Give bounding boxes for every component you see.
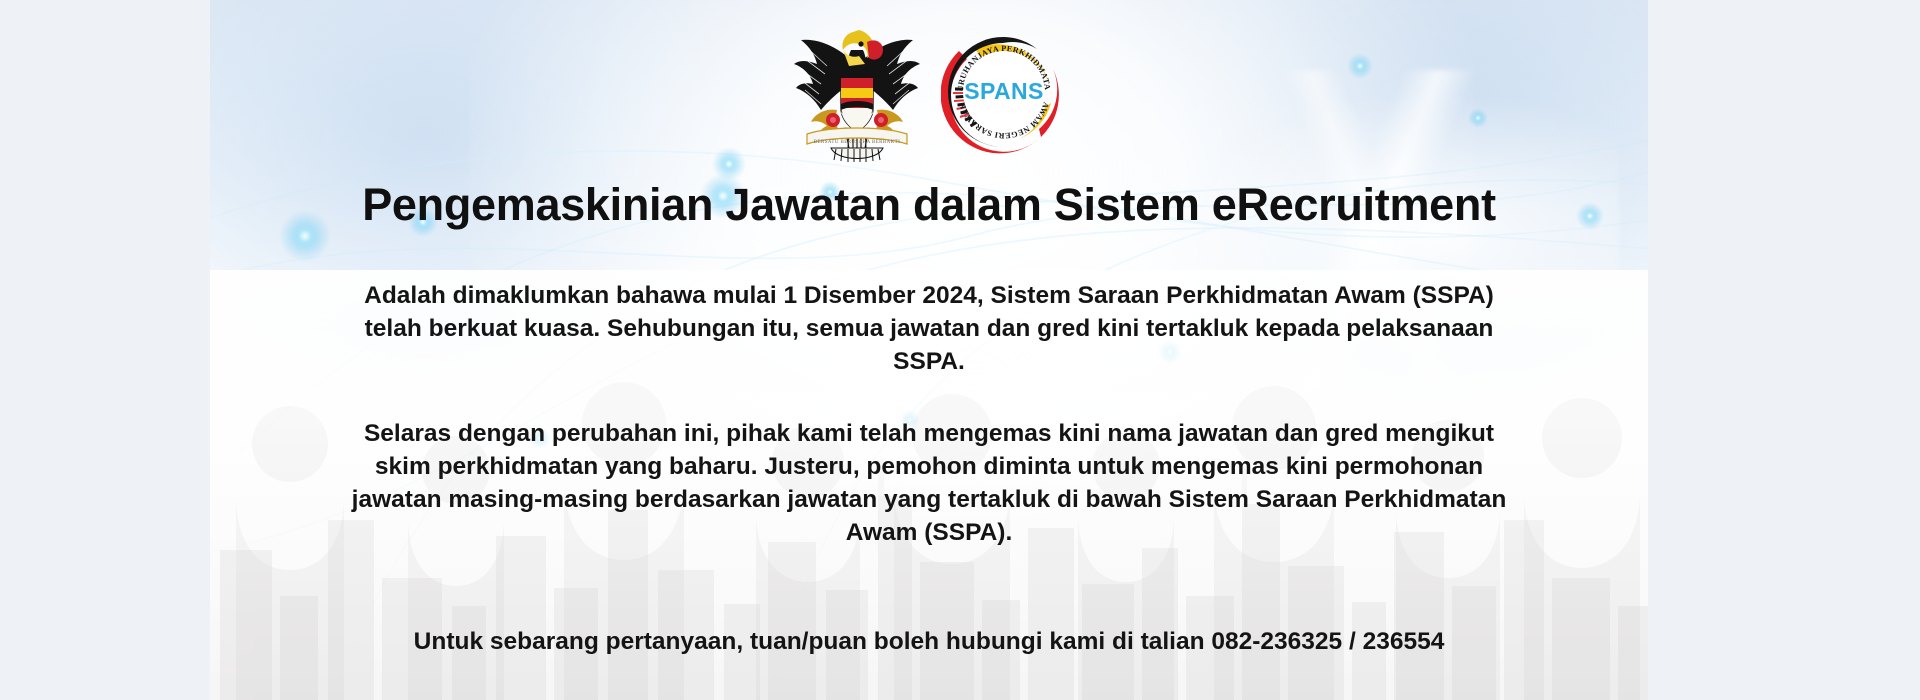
page-title: Pengemaskinian Jawatan dalam Sistem eRec…	[362, 180, 1496, 230]
contact-line: Untuk sebarang pertanyaan, tuan/puan bol…	[304, 626, 1554, 659]
page-root: BERSATU BERUSAHA BERBAKTI	[0, 0, 1920, 700]
announcement-paragraph-2: Selaras dengan perubahan ini, pihak kami…	[334, 418, 1524, 549]
logo-row: BERSATU BERUSAHA BERBAKTI	[791, 22, 1067, 162]
sarawak-coat-of-arms-icon: BERSATU BERUSAHA BERBAKTI	[791, 22, 923, 162]
announcement-banner: BERSATU BERUSAHA BERBAKTI	[210, 0, 1648, 700]
spans-logo-icon: SURUHANJAYA PERKHIDMATAN AWAM NEGERI SAR…	[941, 29, 1067, 155]
svg-text:BERSATU BERUSAHA BERBAKTI: BERSATU BERUSAHA BERBAKTI	[814, 140, 900, 145]
svg-text:SPANS: SPANS	[964, 78, 1044, 104]
announcement-paragraph-1: Adalah dimaklumkan bahawa mulai 1 Disemb…	[334, 280, 1524, 378]
announcement-body: Adalah dimaklumkan bahawa mulai 1 Disemb…	[334, 256, 1524, 575]
banner-content: BERSATU BERUSAHA BERBAKTI	[210, 0, 1648, 700]
